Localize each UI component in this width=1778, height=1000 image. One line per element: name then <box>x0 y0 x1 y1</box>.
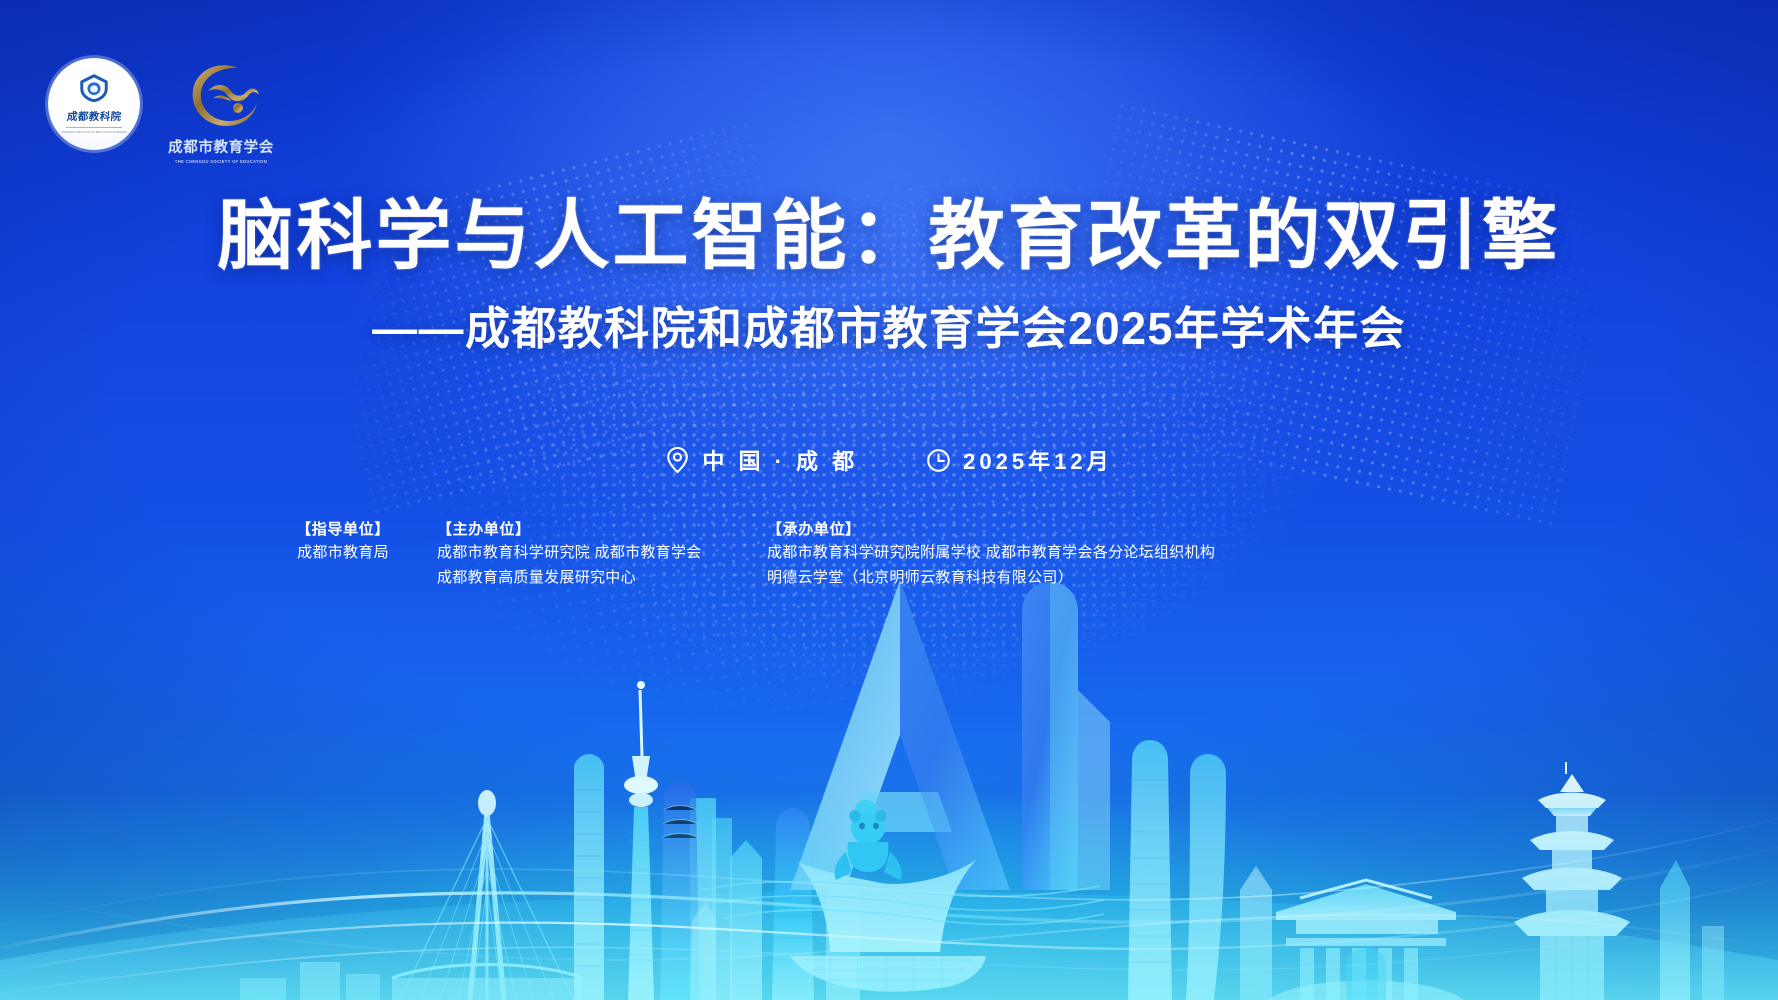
event-date-text: 2025年12月 <box>963 444 1112 476</box>
event-location: 中 国 · 成 都 <box>665 444 858 476</box>
page-title: 脑科学与人工智能：教育改革的双引擎 <box>0 196 1778 278</box>
headline-block: 脑科学与人工智能：教育改革的双引擎 ——成都教科院和成都市教育学会2025年学术… <box>0 196 1778 357</box>
credit-column-organizer: 【承办单位】 成都市教育科学研究院附属学校 成都市教育学会各分论坛组织机构 明德… <box>767 518 1407 590</box>
credit-column-host: 【主办单位】 成都市教育科学研究院 成都市教育学会 成都教育高质量发展研究中心 <box>437 518 767 590</box>
credit-line: 成都市教育科学研究院附属学校 成都市教育学会各分论坛组织机构 <box>767 541 1387 565</box>
location-pin-icon <box>665 446 690 474</box>
credit-heading: 【主办单位】 <box>437 518 747 541</box>
ground-glow <box>0 790 1778 1000</box>
credit-line: 成都教育高质量发展研究中心 <box>437 566 747 590</box>
logo-chengdu-society-of-education: 成都市教育学会 THE CHENGDU SOCIETY OF EDUCATION <box>166 58 276 164</box>
event-meta-row: 中 国 · 成 都 2025年12月 <box>0 444 1778 476</box>
event-location-text: 中 国 · 成 都 <box>702 444 858 476</box>
crescent-cloud-mark-icon <box>182 60 260 135</box>
page-subtitle: ——成都教科院和成都市教育学会2025年学术年会 <box>0 292 1778 357</box>
organizer-credits: 【指导单位】 成都市教育局 【主办单位】 成都市教育科学研究院 成都市教育学会 … <box>269 518 1509 590</box>
logo-1-divider <box>66 127 122 128</box>
event-date: 2025年12月 <box>926 444 1112 476</box>
conference-poster: 成都教科院 CHENGDU INSTITUTE OF EDUCATION SCI… <box>0 0 1778 1000</box>
logo-bar: 成都教科院 CHENGDU INSTITUTE OF EDUCATION SCI… <box>48 58 276 164</box>
logo-1-en-text: CHENGDU INSTITUTE OF EDUCATION SCIENCES <box>61 131 126 134</box>
credit-column-guidance: 【指导单位】 成都市教育局 <box>269 518 437 590</box>
logo-2-en-text: THE CHENGDU SOCIETY OF EDUCATION <box>175 159 267 164</box>
credit-heading: 【指导单位】 <box>269 518 417 541</box>
credit-line: 成都市教育局 <box>269 541 417 565</box>
credit-heading: 【承办单位】 <box>767 518 1387 541</box>
logo-chengdu-institute-of-education-sciences: 成都教科院 CHENGDU INSTITUTE OF EDUCATION SCI… <box>48 58 140 150</box>
logo-1-cn-text: 成都教科院 <box>66 109 122 124</box>
clock-icon <box>926 448 951 473</box>
credit-line: 成都市教育科学研究院 成都市教育学会 <box>437 541 747 565</box>
logo-2-cn-text: 成都市教育学会 <box>168 136 274 157</box>
credit-line: 明德云学堂（北京明师云教育科技有限公司） <box>767 566 1387 590</box>
shield-drop-mark-icon <box>79 74 109 107</box>
